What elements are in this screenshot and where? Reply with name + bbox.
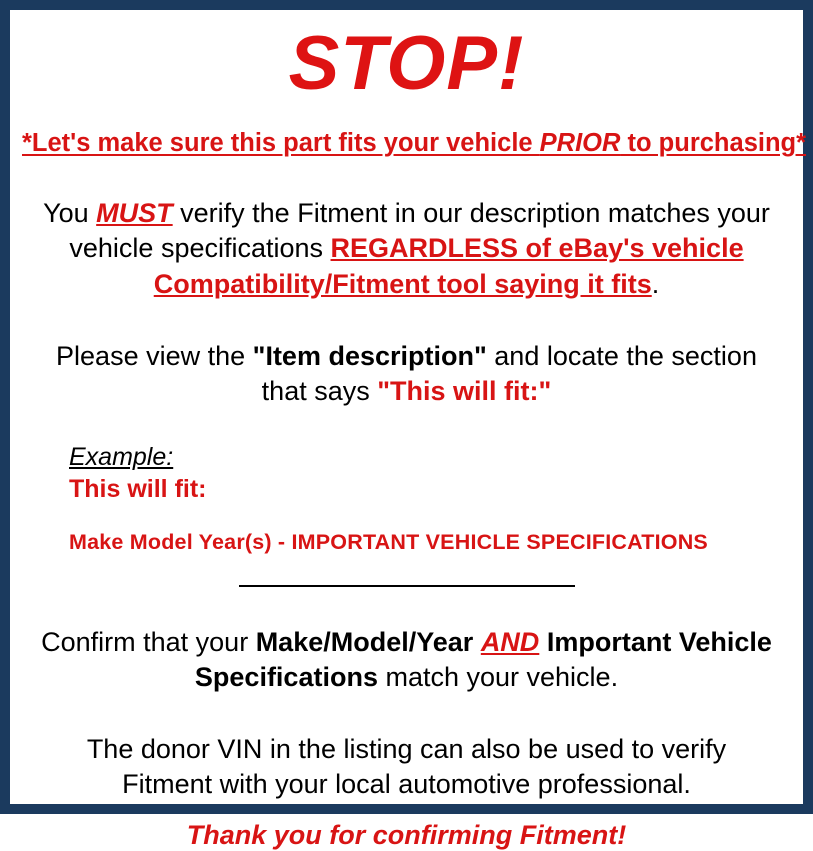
this-will-fit-emphasis: "This will fit:" bbox=[377, 376, 551, 406]
and-emphasis: AND bbox=[481, 627, 540, 657]
confirm-part1: Confirm that your bbox=[41, 627, 256, 657]
example-fit-heading: This will fit: bbox=[69, 474, 791, 504]
make-model-year-emphasis: Make/Model/Year bbox=[256, 627, 474, 657]
tagline-post: to purchasing* bbox=[620, 129, 806, 157]
fitment-notice-frame: STOP! *Let's make sure this part fits yo… bbox=[0, 0, 813, 814]
stop-headline: STOP! bbox=[22, 26, 791, 102]
section-divider bbox=[239, 585, 575, 587]
tagline-pre: *Let's make sure this part fits your veh… bbox=[22, 129, 540, 157]
confirm-part3 bbox=[539, 627, 547, 657]
must-part1: You bbox=[43, 198, 96, 228]
must-part3: . bbox=[652, 269, 660, 299]
divider-wrapper bbox=[22, 577, 791, 595]
confirm-part4: match your vehicle. bbox=[378, 662, 618, 692]
confirm-paragraph: Confirm that your Make/Model/Year AND Im… bbox=[22, 625, 791, 695]
item-description-emphasis: "Item description" bbox=[253, 341, 487, 371]
tagline-prior-emphasis: PRIOR bbox=[540, 129, 621, 157]
example-label: Example: bbox=[69, 443, 791, 472]
verify-tagline: *Let's make sure this part fits your veh… bbox=[22, 129, 791, 158]
thank-you-line: Thank you for confirming Fitment! bbox=[22, 819, 791, 851]
confirm-part2 bbox=[473, 627, 481, 657]
item-description-paragraph: Please view the "Item description" and l… bbox=[22, 339, 791, 409]
donor-vin-paragraph: The donor VIN in the listing can also be… bbox=[22, 732, 791, 802]
example-spec-line: Make Model Year(s) - IMPORTANT VEHICLE S… bbox=[69, 530, 791, 556]
notice-content: STOP! *Let's make sure this part fits yo… bbox=[22, 26, 791, 820]
example-block: Example: This will fit: Make Model Year(… bbox=[22, 443, 791, 556]
must-verify-paragraph: You MUST verify the Fitment in our descr… bbox=[22, 196, 791, 301]
must-emphasis: MUST bbox=[96, 198, 173, 228]
view-part1: Please view the bbox=[56, 341, 253, 371]
